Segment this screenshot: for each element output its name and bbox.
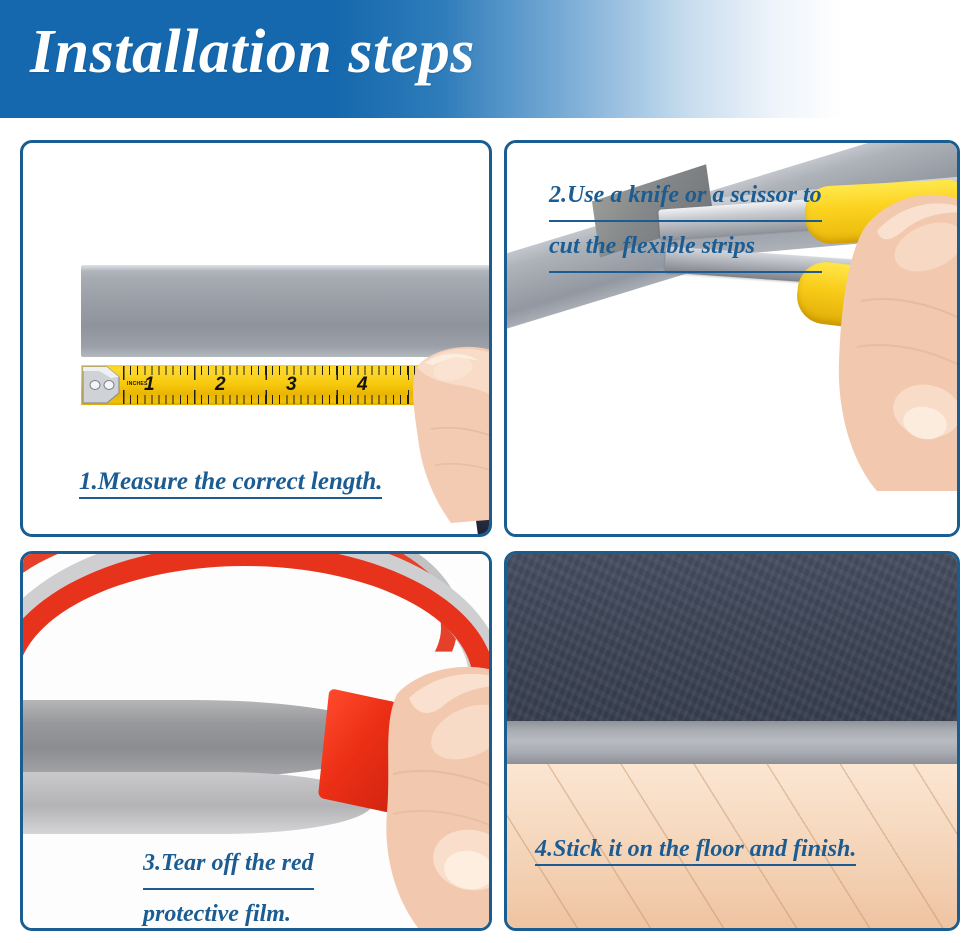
peeling-film-scene: 3.Tear off the red protective film. [23,554,489,928]
caption-line: 1.Measure the correct length. [79,468,382,499]
hand-holding-tape [395,333,492,523]
hand-peeling-film [353,654,492,931]
step-3-caption: 3.Tear off the red protective film. [143,839,314,931]
step-panel-2: 2.Use a knife or a scissor to cut the fl… [504,140,960,537]
page-header: Installation steps [0,0,980,118]
step-4-caption: 4.Stick it on the floor and finish. [535,836,856,866]
dark-wall [507,554,957,721]
measuring-tape-scene: INCHES 1 2 3 4 5 1.Measure the correct l… [23,143,489,534]
page-title: Installation steps [30,13,475,91]
step-panel-1: INCHES 1 2 3 4 5 1.Measure the correct l… [20,140,492,537]
caption-line: 3.Tear off the red [143,839,314,890]
tape-hook-icon [81,363,125,407]
tape-number-1: 1 [144,375,155,394]
tape-number-3: 3 [286,375,297,394]
installed-baseboard-scene: 4.Stick it on the floor and finish. [507,554,957,928]
step-panel-4: 4.Stick it on the floor and finish. [504,551,960,931]
gray-baseboard-strip [507,721,957,764]
tape-number-2: 2 [215,375,226,394]
step-1-caption: 1.Measure the correct length. [79,468,382,499]
cutting-strip-scene: 2.Use a knife or a scissor to cut the fl… [507,143,957,534]
step-2-caption: 2.Use a knife or a scissor to cut the fl… [549,171,822,273]
caption-line: 2.Use a knife or a scissor to [549,171,822,222]
tape-number-4: 4 [357,375,368,394]
caption-line: protective film. [143,890,314,931]
step-panel-3: 3.Tear off the red protective film. [20,551,492,931]
caption-line: 4.Stick it on the floor and finish. [535,836,856,866]
caption-line: cut the flexible strips [549,222,822,273]
hand-holding-scissors [807,161,960,491]
